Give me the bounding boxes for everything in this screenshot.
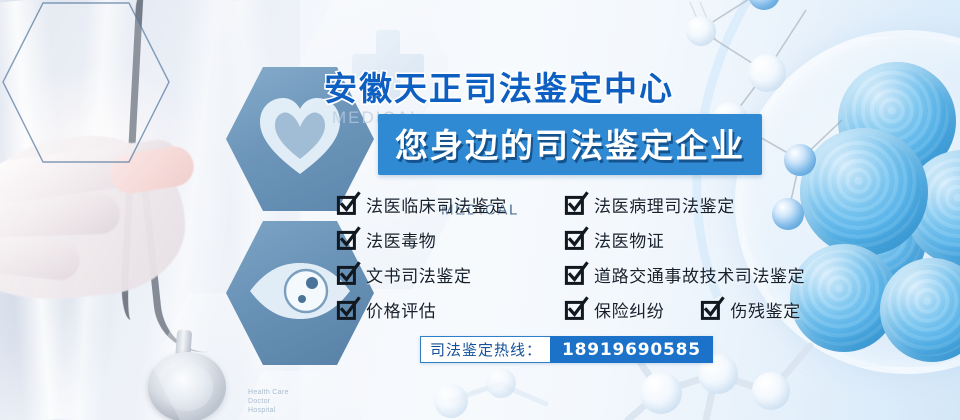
service-item[interactable]: 法医病理司法鉴定 xyxy=(566,192,735,217)
checkbox-checked-icon xyxy=(338,300,357,319)
hotline-number[interactable]: 18919690585 xyxy=(550,336,713,363)
molecule-node xyxy=(784,144,816,176)
molecule-node xyxy=(752,372,790,410)
checkbox-checked-icon xyxy=(338,265,357,284)
service-label: 法医物证 xyxy=(594,227,664,252)
subtitle-banner: 您身边的司法鉴定企业 xyxy=(378,114,762,175)
services-list: 法医临床司法鉴定 法医病理司法鉴定 xyxy=(338,192,858,332)
molecule-node xyxy=(748,54,786,92)
service-label: 伤残鉴定 xyxy=(730,297,800,322)
service-column-left: 文书司法鉴定 xyxy=(338,262,566,287)
service-column-right: 保险纠纷 伤残鉴定 xyxy=(566,297,858,322)
checkbox-checked-icon xyxy=(338,230,357,249)
service-label: 保险纠纷 xyxy=(594,297,664,322)
subtitle-text: 您身边的司法鉴定企业 xyxy=(395,119,745,167)
service-label: 文书司法鉴定 xyxy=(366,262,472,287)
service-item[interactable]: 文书司法鉴定 xyxy=(338,262,472,287)
molecule-node xyxy=(686,16,716,46)
molecule-node xyxy=(434,384,468,418)
checkbox-checked-icon xyxy=(338,195,357,214)
checkbox-checked-icon xyxy=(702,300,721,319)
hotline-label: 司法鉴定热线： xyxy=(420,336,550,363)
checkbox-checked-icon xyxy=(566,230,585,249)
service-label: 法医毒物 xyxy=(366,227,436,252)
service-label: 价格评估 xyxy=(366,297,436,322)
service-row: 文书司法鉴定 道路交通事故技术司法鉴定 xyxy=(338,262,858,297)
service-item[interactable]: 保险纠纷 xyxy=(566,297,664,322)
service-column-left: 法医毒物 xyxy=(338,227,566,252)
service-label: 法医病理司法鉴定 xyxy=(594,192,735,217)
hexagon-medical-outline: MEDICAL xyxy=(0,0,172,165)
service-row: 法医临床司法鉴定 法医病理司法鉴定 xyxy=(338,192,858,227)
service-item[interactable]: 道路交通事故技术司法鉴定 xyxy=(566,262,805,287)
service-row: 价格评估 保险纠纷 xyxy=(338,297,858,332)
hexagon-sub-caption: Health CareDoctorHospital xyxy=(248,388,289,415)
service-row: 法医毒物 法医物证 xyxy=(338,227,858,262)
service-column-right: 法医病理司法鉴定 xyxy=(566,192,858,217)
service-label: 道路交通事故技术司法鉴定 xyxy=(594,262,805,287)
service-column-left: 价格评估 xyxy=(338,297,566,322)
service-item[interactable]: 伤残鉴定 xyxy=(702,297,800,322)
service-item[interactable]: 法医临床司法鉴定 xyxy=(338,192,507,217)
service-item[interactable]: 法医毒物 xyxy=(338,227,436,252)
service-column-left: 法医临床司法鉴定 xyxy=(338,192,566,217)
hotline-bar[interactable]: 司法鉴定热线： 18919690585 xyxy=(420,336,713,363)
molecule-node xyxy=(486,368,516,398)
checkbox-checked-icon xyxy=(566,265,585,284)
checkbox-checked-icon xyxy=(566,300,585,319)
checkbox-checked-icon xyxy=(566,195,585,214)
service-column-right: 法医物证 xyxy=(566,227,858,252)
service-item[interactable]: 价格评估 xyxy=(338,297,436,322)
service-column-right: 道路交通事故技术司法鉴定 xyxy=(566,262,858,287)
promo-banner: MEDICAL Health CareDoctorHospital MEDICA… xyxy=(0,0,960,420)
molecule-node xyxy=(640,372,682,414)
page-title: 安徽天正司法鉴定中心 xyxy=(324,62,674,110)
service-label: 法医临床司法鉴定 xyxy=(366,192,507,217)
service-item[interactable]: 法医物证 xyxy=(566,227,664,252)
